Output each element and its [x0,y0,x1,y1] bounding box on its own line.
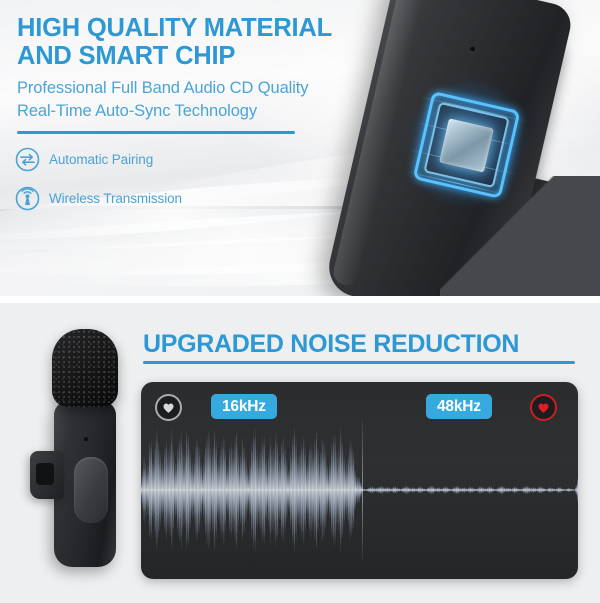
section-title: UPGRADED NOISE REDUCTION [143,330,579,359]
badge-48khz: 48kHz [426,394,492,419]
receiver-mic-hole [469,46,475,52]
background-corner-wedge [440,176,600,296]
feature-item-wireless-transmission: Wireless Transmission [15,182,182,215]
microphone-button [74,457,108,523]
heart-icon-gray [155,394,182,421]
top-feature-panel: HIGH QUALITY MATERIAL AND SMART CHIP Pro… [0,0,600,296]
headline-divider [17,131,295,134]
feature-label: Automatic Pairing [49,152,153,167]
wireless-broadcast-icon [15,186,40,211]
heart-icon-red [530,394,557,421]
feature-list: Automatic Pairing Wireless Transmission [15,143,182,221]
product-feature-page: HIGH QUALITY MATERIAL AND SMART CHIP Pro… [0,0,600,603]
feature-label: Wireless Transmission [49,191,182,206]
waveform-comparison-panel: 16kHz 48kHz [141,382,578,579]
page-subtitle: Professional Full Band Audio CD Quality … [17,77,367,123]
microphone-clip-slot [36,463,54,485]
lavalier-microphone [28,319,140,569]
headline-block: HIGH QUALITY MATERIAL AND SMART CHIP Pro… [17,14,367,123]
microphone-led-indicator [84,437,88,441]
badge-16khz: 16kHz [211,394,277,419]
audio-waveform-chart [141,420,578,560]
section-title-underline [143,361,575,364]
microphone-clip [30,451,64,499]
page-title: HIGH QUALITY MATERIAL AND SMART CHIP [17,14,367,70]
auto-pairing-exchange-icon [15,147,40,172]
bottom-feature-panel: UPGRADED NOISE REDUCTION [0,303,600,603]
feature-item-automatic-pairing: Automatic Pairing [15,143,182,176]
microphone-foam-windscreen [52,329,118,407]
